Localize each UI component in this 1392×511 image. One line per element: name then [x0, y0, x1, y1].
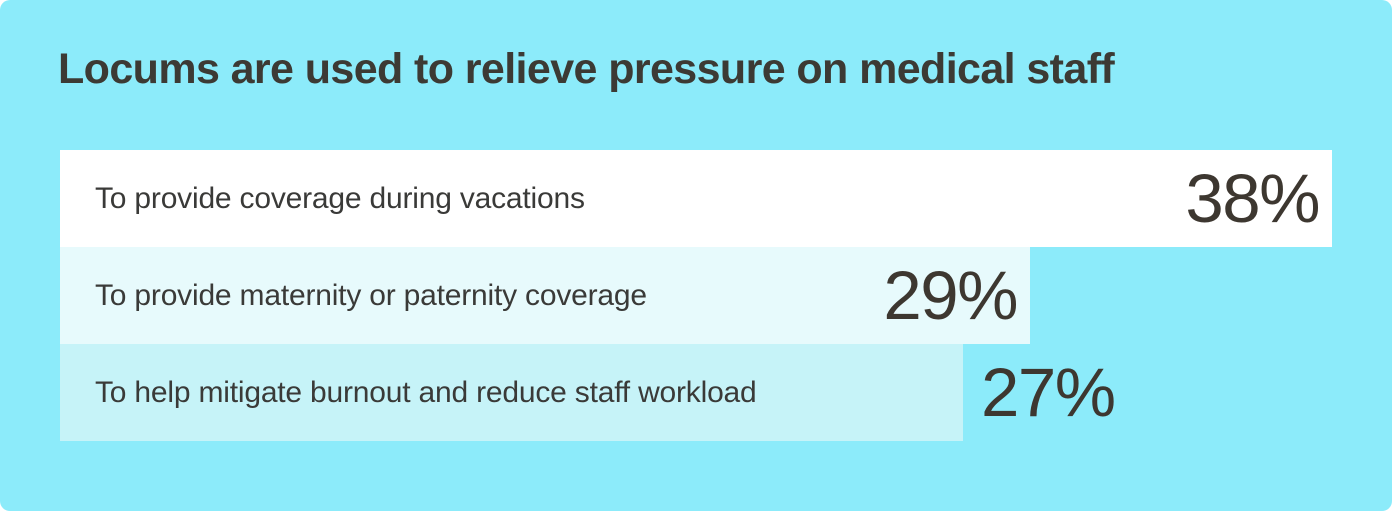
- bar-row: To provide coverage during vacations 38%: [60, 150, 1392, 247]
- bar-value-3: 27%: [963, 344, 1115, 441]
- bar-row: To provide maternity or paternity covera…: [60, 247, 1392, 344]
- bar-value-3-text: 27%: [963, 353, 1115, 432]
- bar-label-1: To provide coverage during vacations: [95, 150, 585, 247]
- infographic-canvas: Locums are used to relieve pressure on m…: [0, 0, 1392, 511]
- bar-row: To help mitigate burnout and reduce staf…: [60, 344, 1392, 441]
- bar-value-2-text: 29%: [883, 256, 1030, 335]
- bar-chart: To provide coverage during vacations 38%…: [60, 150, 1392, 441]
- bar-value-1-text: 38%: [1185, 159, 1332, 238]
- page-title: Locums are used to relieve pressure on m…: [58, 44, 1338, 95]
- bar-label-2: To provide maternity or paternity covera…: [95, 247, 647, 344]
- bar-label-3: To help mitigate burnout and reduce staf…: [95, 344, 757, 441]
- bar-value-1: 38%: [1185, 150, 1332, 247]
- bar-value-2: 29%: [883, 247, 1030, 344]
